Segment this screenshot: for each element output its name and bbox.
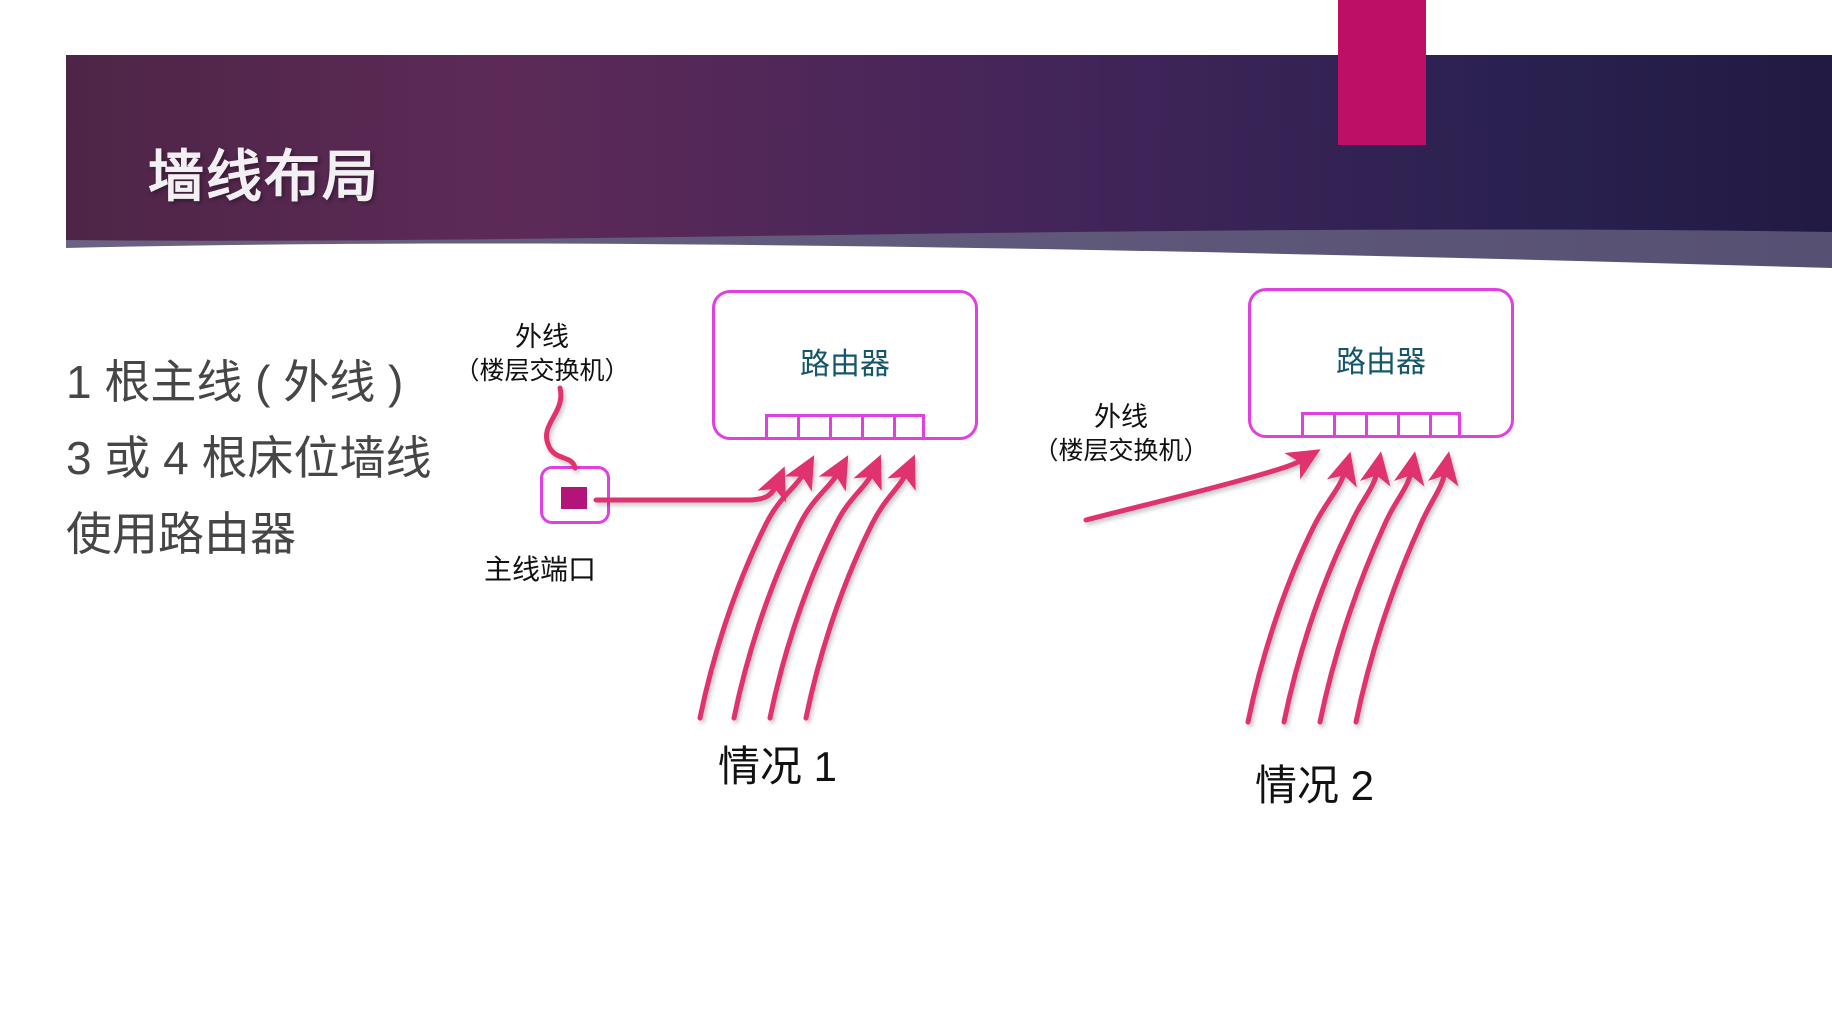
body-line-3: 使用路由器 (66, 496, 432, 572)
router-2-port-4 (1397, 412, 1429, 438)
wall-line-1-d (806, 470, 908, 718)
router-2-port-strip (1301, 412, 1461, 438)
case-2-caption: 情况 2 (1255, 752, 1374, 813)
wall-line-2-a (1248, 468, 1346, 722)
router-2-port-1 (1301, 412, 1333, 438)
title-banner: 墙线布局 (0, 0, 1832, 300)
body-line-2: 3 或 4 根床位墙线 (66, 420, 432, 496)
outside-line-label-1: 外线 （楼层交换机） (452, 320, 632, 388)
trunk-port-box (540, 466, 610, 524)
outside-wire-1 (546, 388, 575, 468)
router-1-port-strip (765, 414, 925, 440)
page-title: 墙线布局 (148, 132, 380, 213)
outside-line-label-1-line1: 外线 (452, 320, 632, 354)
wall-line-2-c (1320, 468, 1412, 722)
router-box-1: 路由器 (712, 290, 978, 440)
router-1-label: 路由器 (715, 339, 975, 383)
wall-line-2-b (1284, 468, 1378, 722)
wall-line-1-b (734, 470, 840, 718)
wall-line-2-d (1356, 468, 1446, 722)
router-2-port-3 (1365, 412, 1397, 438)
accent-rectangle (1338, 0, 1426, 145)
body-text-block: 1 根主线 ( 外线 ) 3 或 4 根床位墙线 使用路由器 (66, 344, 432, 572)
body-line-1: 1 根主线 ( 外线 ) (66, 344, 432, 420)
wall-line-1-c (770, 470, 874, 718)
router-1-port-1 (765, 414, 797, 440)
router-1-port-3 (829, 414, 861, 440)
slide-canvas: 墙线布局 1 根主线 ( 外线 ) 3 或 4 根床位墙线 使用路由器 外线 （… (0, 0, 1832, 1029)
router-1-port-5 (893, 414, 925, 440)
outside-line-label-2: 外线 （楼层交换机） (1026, 400, 1216, 468)
outside-line-label-2-line2: （楼层交换机） (1026, 434, 1216, 468)
outside-line-label-1-line2: （楼层交换机） (452, 354, 632, 388)
outside-line-label-2-line1: 外线 (1026, 400, 1216, 434)
router-box-2: 路由器 (1248, 288, 1514, 438)
router-1-port-4 (861, 414, 893, 440)
case-1-caption: 情况 1 (718, 733, 837, 794)
wall-line-1-a (700, 470, 806, 718)
router-2-label: 路由器 (1251, 337, 1511, 381)
router-1-port-2 (797, 414, 829, 440)
trunk-port-label: 主线端口 (484, 548, 596, 588)
router-2-port-5 (1429, 412, 1461, 438)
router-2-port-2 (1333, 412, 1365, 438)
trunk-to-router-wire (596, 482, 778, 500)
trunk-port-chip-icon (561, 487, 587, 509)
